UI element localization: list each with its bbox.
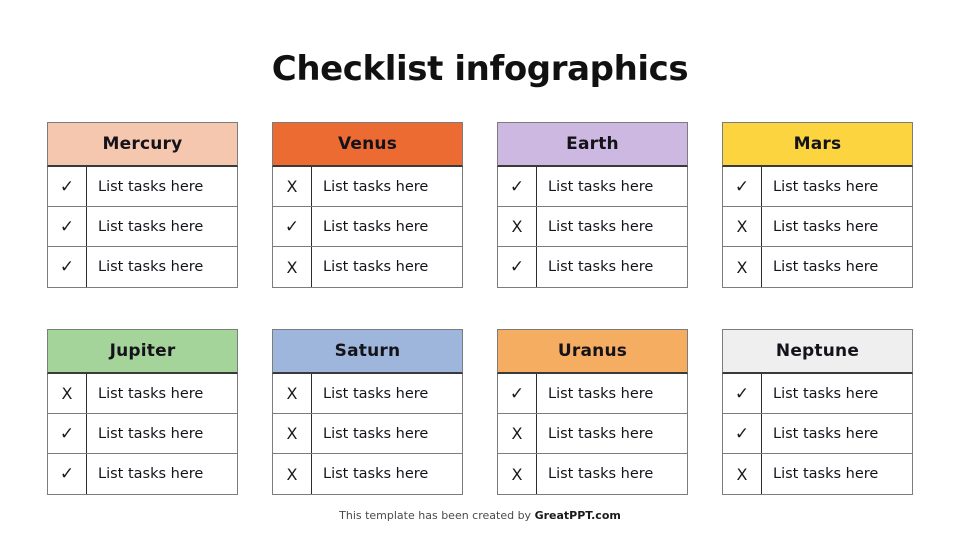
task-label[interactable]: List tasks here bbox=[312, 167, 462, 206]
table-row: ✓List tasks here bbox=[498, 247, 687, 287]
table-row: ✓List tasks here bbox=[48, 414, 237, 454]
card-rows: ✓List tasks here✓List tasks here✓List ta… bbox=[47, 167, 238, 288]
check-icon[interactable]: ✓ bbox=[48, 207, 87, 246]
task-label[interactable]: List tasks here bbox=[762, 454, 912, 494]
task-label[interactable]: List tasks here bbox=[87, 247, 237, 287]
task-label[interactable]: List tasks here bbox=[537, 207, 687, 246]
check-icon[interactable]: ✓ bbox=[48, 167, 87, 206]
table-row: XList tasks here bbox=[48, 374, 237, 414]
table-row: ✓List tasks here bbox=[723, 414, 912, 454]
task-label[interactable]: List tasks here bbox=[537, 167, 687, 206]
task-label[interactable]: List tasks here bbox=[312, 414, 462, 453]
footer-brand-link[interactable]: GreatPPT.com bbox=[535, 509, 621, 522]
checklist-card-mars: Mars✓List tasks hereXList tasks hereXLis… bbox=[722, 122, 913, 288]
card-header-saturn: Saturn bbox=[272, 329, 463, 374]
table-row: ✓List tasks here bbox=[48, 167, 237, 207]
table-row: XList tasks here bbox=[498, 414, 687, 454]
table-row: ✓List tasks here bbox=[723, 167, 912, 207]
check-icon[interactable]: ✓ bbox=[48, 454, 87, 494]
table-row: ✓List tasks here bbox=[273, 207, 462, 247]
table-row: XList tasks here bbox=[723, 247, 912, 287]
checklist-card-earth: Earth✓List tasks hereXList tasks here✓Li… bbox=[497, 122, 688, 288]
table-row: XList tasks here bbox=[273, 454, 462, 494]
task-label[interactable]: List tasks here bbox=[537, 454, 687, 494]
checklist-grid: Mercury✓List tasks here✓List tasks here✓… bbox=[47, 122, 913, 495]
check-icon[interactable]: ✓ bbox=[723, 167, 762, 206]
checklist-card-saturn: SaturnXList tasks hereXList tasks hereXL… bbox=[272, 329, 463, 495]
task-label[interactable]: List tasks here bbox=[312, 207, 462, 246]
checklist-card-mercury: Mercury✓List tasks here✓List tasks here✓… bbox=[47, 122, 238, 288]
cross-icon[interactable]: X bbox=[498, 454, 537, 494]
table-row: ✓List tasks here bbox=[48, 207, 237, 247]
cross-icon[interactable]: X bbox=[273, 374, 312, 413]
checklist-card-jupiter: JupiterXList tasks here✓List tasks here✓… bbox=[47, 329, 238, 495]
cross-icon[interactable]: X bbox=[498, 414, 537, 453]
cross-icon[interactable]: X bbox=[723, 207, 762, 246]
footer-attribution: This template has been created by GreatP… bbox=[0, 509, 960, 522]
task-label[interactable]: List tasks here bbox=[87, 167, 237, 206]
table-row: XList tasks here bbox=[273, 414, 462, 454]
task-label[interactable]: List tasks here bbox=[762, 207, 912, 246]
check-icon[interactable]: ✓ bbox=[273, 207, 312, 246]
cross-icon[interactable]: X bbox=[273, 247, 312, 287]
card-header-mercury: Mercury bbox=[47, 122, 238, 167]
table-row: XList tasks here bbox=[273, 374, 462, 414]
table-row: ✓List tasks here bbox=[48, 454, 237, 494]
task-label[interactable]: List tasks here bbox=[537, 374, 687, 413]
task-label[interactable]: List tasks here bbox=[762, 414, 912, 453]
table-row: ✓List tasks here bbox=[48, 247, 237, 287]
task-label[interactable]: List tasks here bbox=[537, 247, 687, 287]
cross-icon[interactable]: X bbox=[273, 167, 312, 206]
card-header-venus: Venus bbox=[272, 122, 463, 167]
card-rows: XList tasks here✓List tasks hereXList ta… bbox=[272, 167, 463, 288]
table-row: XList tasks here bbox=[273, 247, 462, 287]
task-label[interactable]: List tasks here bbox=[87, 374, 237, 413]
cross-icon[interactable]: X bbox=[723, 247, 762, 287]
task-label[interactable]: List tasks here bbox=[312, 374, 462, 413]
check-icon[interactable]: ✓ bbox=[723, 414, 762, 453]
checklist-card-uranus: Uranus✓List tasks hereXList tasks hereXL… bbox=[497, 329, 688, 495]
page-title: Checklist infographics bbox=[0, 49, 960, 89]
cross-icon[interactable]: X bbox=[48, 374, 87, 413]
card-rows: ✓List tasks hereXList tasks here✓List ta… bbox=[497, 167, 688, 288]
card-rows: ✓List tasks hereXList tasks hereXList ta… bbox=[722, 167, 913, 288]
table-row: XList tasks here bbox=[273, 167, 462, 207]
cross-icon[interactable]: X bbox=[273, 454, 312, 494]
cross-icon[interactable]: X bbox=[498, 207, 537, 246]
card-header-neptune: Neptune bbox=[722, 329, 913, 374]
cross-icon[interactable]: X bbox=[723, 454, 762, 494]
slide-canvas: Checklist infographics Mercury✓List task… bbox=[0, 0, 960, 540]
card-rows: ✓List tasks here✓List tasks hereXList ta… bbox=[722, 374, 913, 495]
task-label[interactable]: List tasks here bbox=[312, 247, 462, 287]
card-header-jupiter: Jupiter bbox=[47, 329, 238, 374]
table-row: XList tasks here bbox=[498, 454, 687, 494]
card-header-mars: Mars bbox=[722, 122, 913, 167]
check-icon[interactable]: ✓ bbox=[498, 167, 537, 206]
task-label[interactable]: List tasks here bbox=[87, 414, 237, 453]
table-row: ✓List tasks here bbox=[498, 374, 687, 414]
table-row: ✓List tasks here bbox=[723, 374, 912, 414]
card-header-uranus: Uranus bbox=[497, 329, 688, 374]
table-row: XList tasks here bbox=[498, 207, 687, 247]
card-rows: ✓List tasks hereXList tasks hereXList ta… bbox=[497, 374, 688, 495]
checklist-card-neptune: Neptune✓List tasks here✓List tasks hereX… bbox=[722, 329, 913, 495]
card-rows: XList tasks hereXList tasks hereXList ta… bbox=[272, 374, 463, 495]
task-label[interactable]: List tasks here bbox=[762, 247, 912, 287]
table-row: XList tasks here bbox=[723, 454, 912, 494]
task-label[interactable]: List tasks here bbox=[87, 207, 237, 246]
check-icon[interactable]: ✓ bbox=[723, 374, 762, 413]
check-icon[interactable]: ✓ bbox=[48, 414, 87, 453]
table-row: XList tasks here bbox=[723, 207, 912, 247]
task-label[interactable]: List tasks here bbox=[312, 454, 462, 494]
task-label[interactable]: List tasks here bbox=[762, 167, 912, 206]
card-header-earth: Earth bbox=[497, 122, 688, 167]
table-row: ✓List tasks here bbox=[498, 167, 687, 207]
cross-icon[interactable]: X bbox=[273, 414, 312, 453]
task-label[interactable]: List tasks here bbox=[537, 414, 687, 453]
checklist-card-venus: VenusXList tasks here✓List tasks hereXLi… bbox=[272, 122, 463, 288]
footer-text: This template has been created by bbox=[339, 509, 534, 522]
task-label[interactable]: List tasks here bbox=[87, 454, 237, 494]
task-label[interactable]: List tasks here bbox=[762, 374, 912, 413]
check-icon[interactable]: ✓ bbox=[498, 247, 537, 287]
card-rows: XList tasks here✓List tasks here✓List ta… bbox=[47, 374, 238, 495]
check-icon[interactable]: ✓ bbox=[498, 374, 537, 413]
check-icon[interactable]: ✓ bbox=[48, 247, 87, 287]
